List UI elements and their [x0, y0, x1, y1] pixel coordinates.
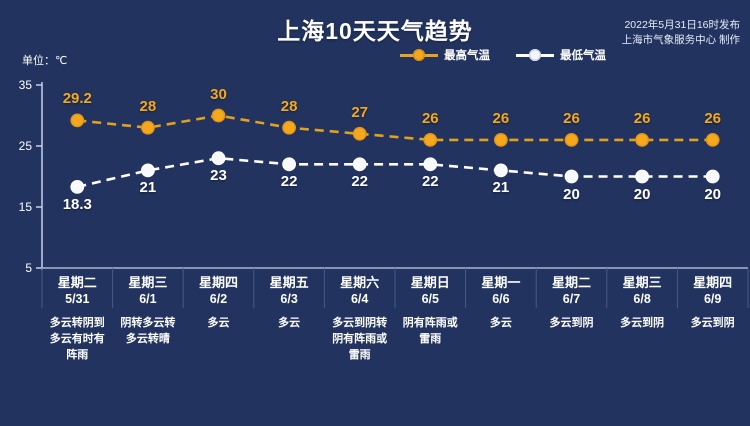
orange-circle-line-marker-icon [400, 48, 438, 62]
low-temp-point [636, 170, 648, 182]
day-date-label: 6/4 [324, 291, 395, 308]
low-temp-point [142, 164, 154, 176]
high-temp-point [707, 134, 719, 146]
low-temp-label: 23 [210, 167, 227, 184]
low-temp-point [565, 170, 577, 182]
day-condition-label: 多云 [466, 315, 537, 331]
legend-item-high: 最高气温 [400, 47, 490, 63]
low-temp-label: 21 [140, 179, 157, 196]
day-condition-label: 阴有阵雨或雷雨 [395, 315, 466, 347]
high-temp-label: 30 [210, 86, 227, 103]
day-weekday-label: 星期四 [677, 274, 748, 291]
day-column[interactable]: 星期二5/31多云转阴到多云有时有阵雨 [42, 274, 113, 363]
day-date-label: 6/2 [183, 291, 254, 308]
day-condition-label: 多云到阴转阴有阵雨或雷雨 [324, 315, 395, 363]
day-condition-label: 多云到阴 [677, 315, 748, 331]
legend-label-high: 最高气温 [444, 47, 490, 63]
low-temp-point [495, 164, 507, 176]
high-temp-label: 27 [351, 104, 368, 121]
low-temp-point [71, 181, 83, 193]
day-condition-label: 多云转阴到多云有时有阵雨 [42, 315, 113, 363]
low-temp-point [283, 158, 295, 170]
day-condition-label: 多云 [254, 315, 325, 331]
low-temp-label: 22 [351, 173, 368, 190]
high-temp-label: 28 [281, 98, 298, 115]
day-date-label: 6/6 [466, 291, 537, 308]
low-temp-point [424, 158, 436, 170]
low-temp-label: 21 [493, 179, 510, 196]
publish-info: 2022年5月31日16时发布 上海市气象服务中心 制作 [622, 18, 740, 48]
day-column[interactable]: 星期三6/1阴转多云转多云转晴 [113, 274, 184, 347]
day-column[interactable]: 星期四6/9多云到阴 [677, 274, 748, 331]
high-temp-label: 26 [634, 110, 651, 127]
day-weekday-label: 星期一 [466, 274, 537, 291]
low-temp-label: 20 [704, 186, 721, 203]
publish-time: 2022年5月31日16时发布 [622, 18, 740, 33]
day-column[interactable]: 星期一6/6多云 [466, 274, 537, 331]
day-column[interactable]: 星期二6/7多云到阴 [536, 274, 607, 331]
day-condition-label: 多云到阴 [607, 315, 678, 331]
high-temp-point [283, 122, 295, 134]
day-column[interactable]: 星期五6/3多云 [254, 274, 325, 331]
y-axis-tick-label: 5 [2, 261, 32, 275]
high-temp-point [212, 109, 224, 121]
y-axis-unit-label: 单位：℃ [22, 52, 67, 68]
high-temp-label: 28 [140, 98, 157, 115]
low-temp-line [77, 158, 712, 187]
day-column[interactable]: 星期三6/8多云到阴 [607, 274, 678, 331]
high-temp-point [424, 134, 436, 146]
high-temp-label: 26 [422, 110, 439, 127]
high-temp-point [142, 122, 154, 134]
high-temp-label: 29.2 [63, 90, 92, 107]
high-temp-point [71, 114, 83, 126]
low-temp-label: 20 [634, 186, 651, 203]
low-temp-label: 18.3 [63, 196, 92, 213]
high-temp-point [636, 134, 648, 146]
day-column[interactable]: 星期六6/4多云到阴转阴有阵雨或雷雨 [324, 274, 395, 363]
day-condition-label: 多云 [183, 315, 254, 331]
publisher-name: 上海市气象服务中心 制作 [622, 33, 740, 48]
day-column[interactable]: 星期四6/2多云 [183, 274, 254, 331]
day-condition-label: 阴转多云转多云转晴 [113, 315, 184, 347]
high-temp-label: 26 [493, 110, 510, 127]
high-temp-label: 26 [704, 110, 721, 127]
y-axis-tick-label: 15 [2, 200, 32, 214]
day-weekday-label: 星期二 [536, 274, 607, 291]
low-temp-point [354, 158, 366, 170]
high-temp-point [354, 128, 366, 140]
day-weekday-label: 星期三 [607, 274, 678, 291]
day-weekday-label: 星期三 [113, 274, 184, 291]
day-weekday-label: 星期五 [254, 274, 325, 291]
chart-legend: 最高气温 最低气温 [400, 44, 606, 66]
day-date-label: 6/8 [607, 291, 678, 308]
y-axis-tick-label: 25 [2, 139, 32, 153]
day-date-label: 5/31 [42, 291, 113, 308]
weather-trend-chart: 上海10天天气趋势 2022年5月31日16时发布 上海市气象服务中心 制作 最… [0, 0, 750, 426]
day-date-label: 6/5 [395, 291, 466, 308]
day-column[interactable]: 星期日6/5阴有阵雨或雷雨 [395, 274, 466, 347]
day-date-label: 6/7 [536, 291, 607, 308]
high-temp-label: 26 [563, 110, 580, 127]
day-weekday-label: 星期四 [183, 274, 254, 291]
legend-label-low: 最低气温 [560, 47, 606, 63]
white-circle-line-marker-icon [516, 48, 554, 62]
low-temp-label: 22 [422, 173, 439, 190]
y-axis-tick-label: 35 [2, 78, 32, 92]
low-temp-point [707, 170, 719, 182]
day-weekday-label: 星期六 [324, 274, 395, 291]
day-date-label: 6/3 [254, 291, 325, 308]
low-temp-label: 22 [281, 173, 298, 190]
legend-item-low: 最低气温 [516, 47, 606, 63]
high-temp-line [77, 116, 712, 140]
high-temp-point [565, 134, 577, 146]
day-weekday-label: 星期二 [42, 274, 113, 291]
day-date-label: 6/1 [113, 291, 184, 308]
day-condition-label: 多云到阴 [536, 315, 607, 331]
day-weekday-label: 星期日 [395, 274, 466, 291]
day-date-label: 6/9 [677, 291, 748, 308]
high-temp-point [495, 134, 507, 146]
low-temp-point [212, 152, 224, 164]
low-temp-label: 20 [563, 186, 580, 203]
